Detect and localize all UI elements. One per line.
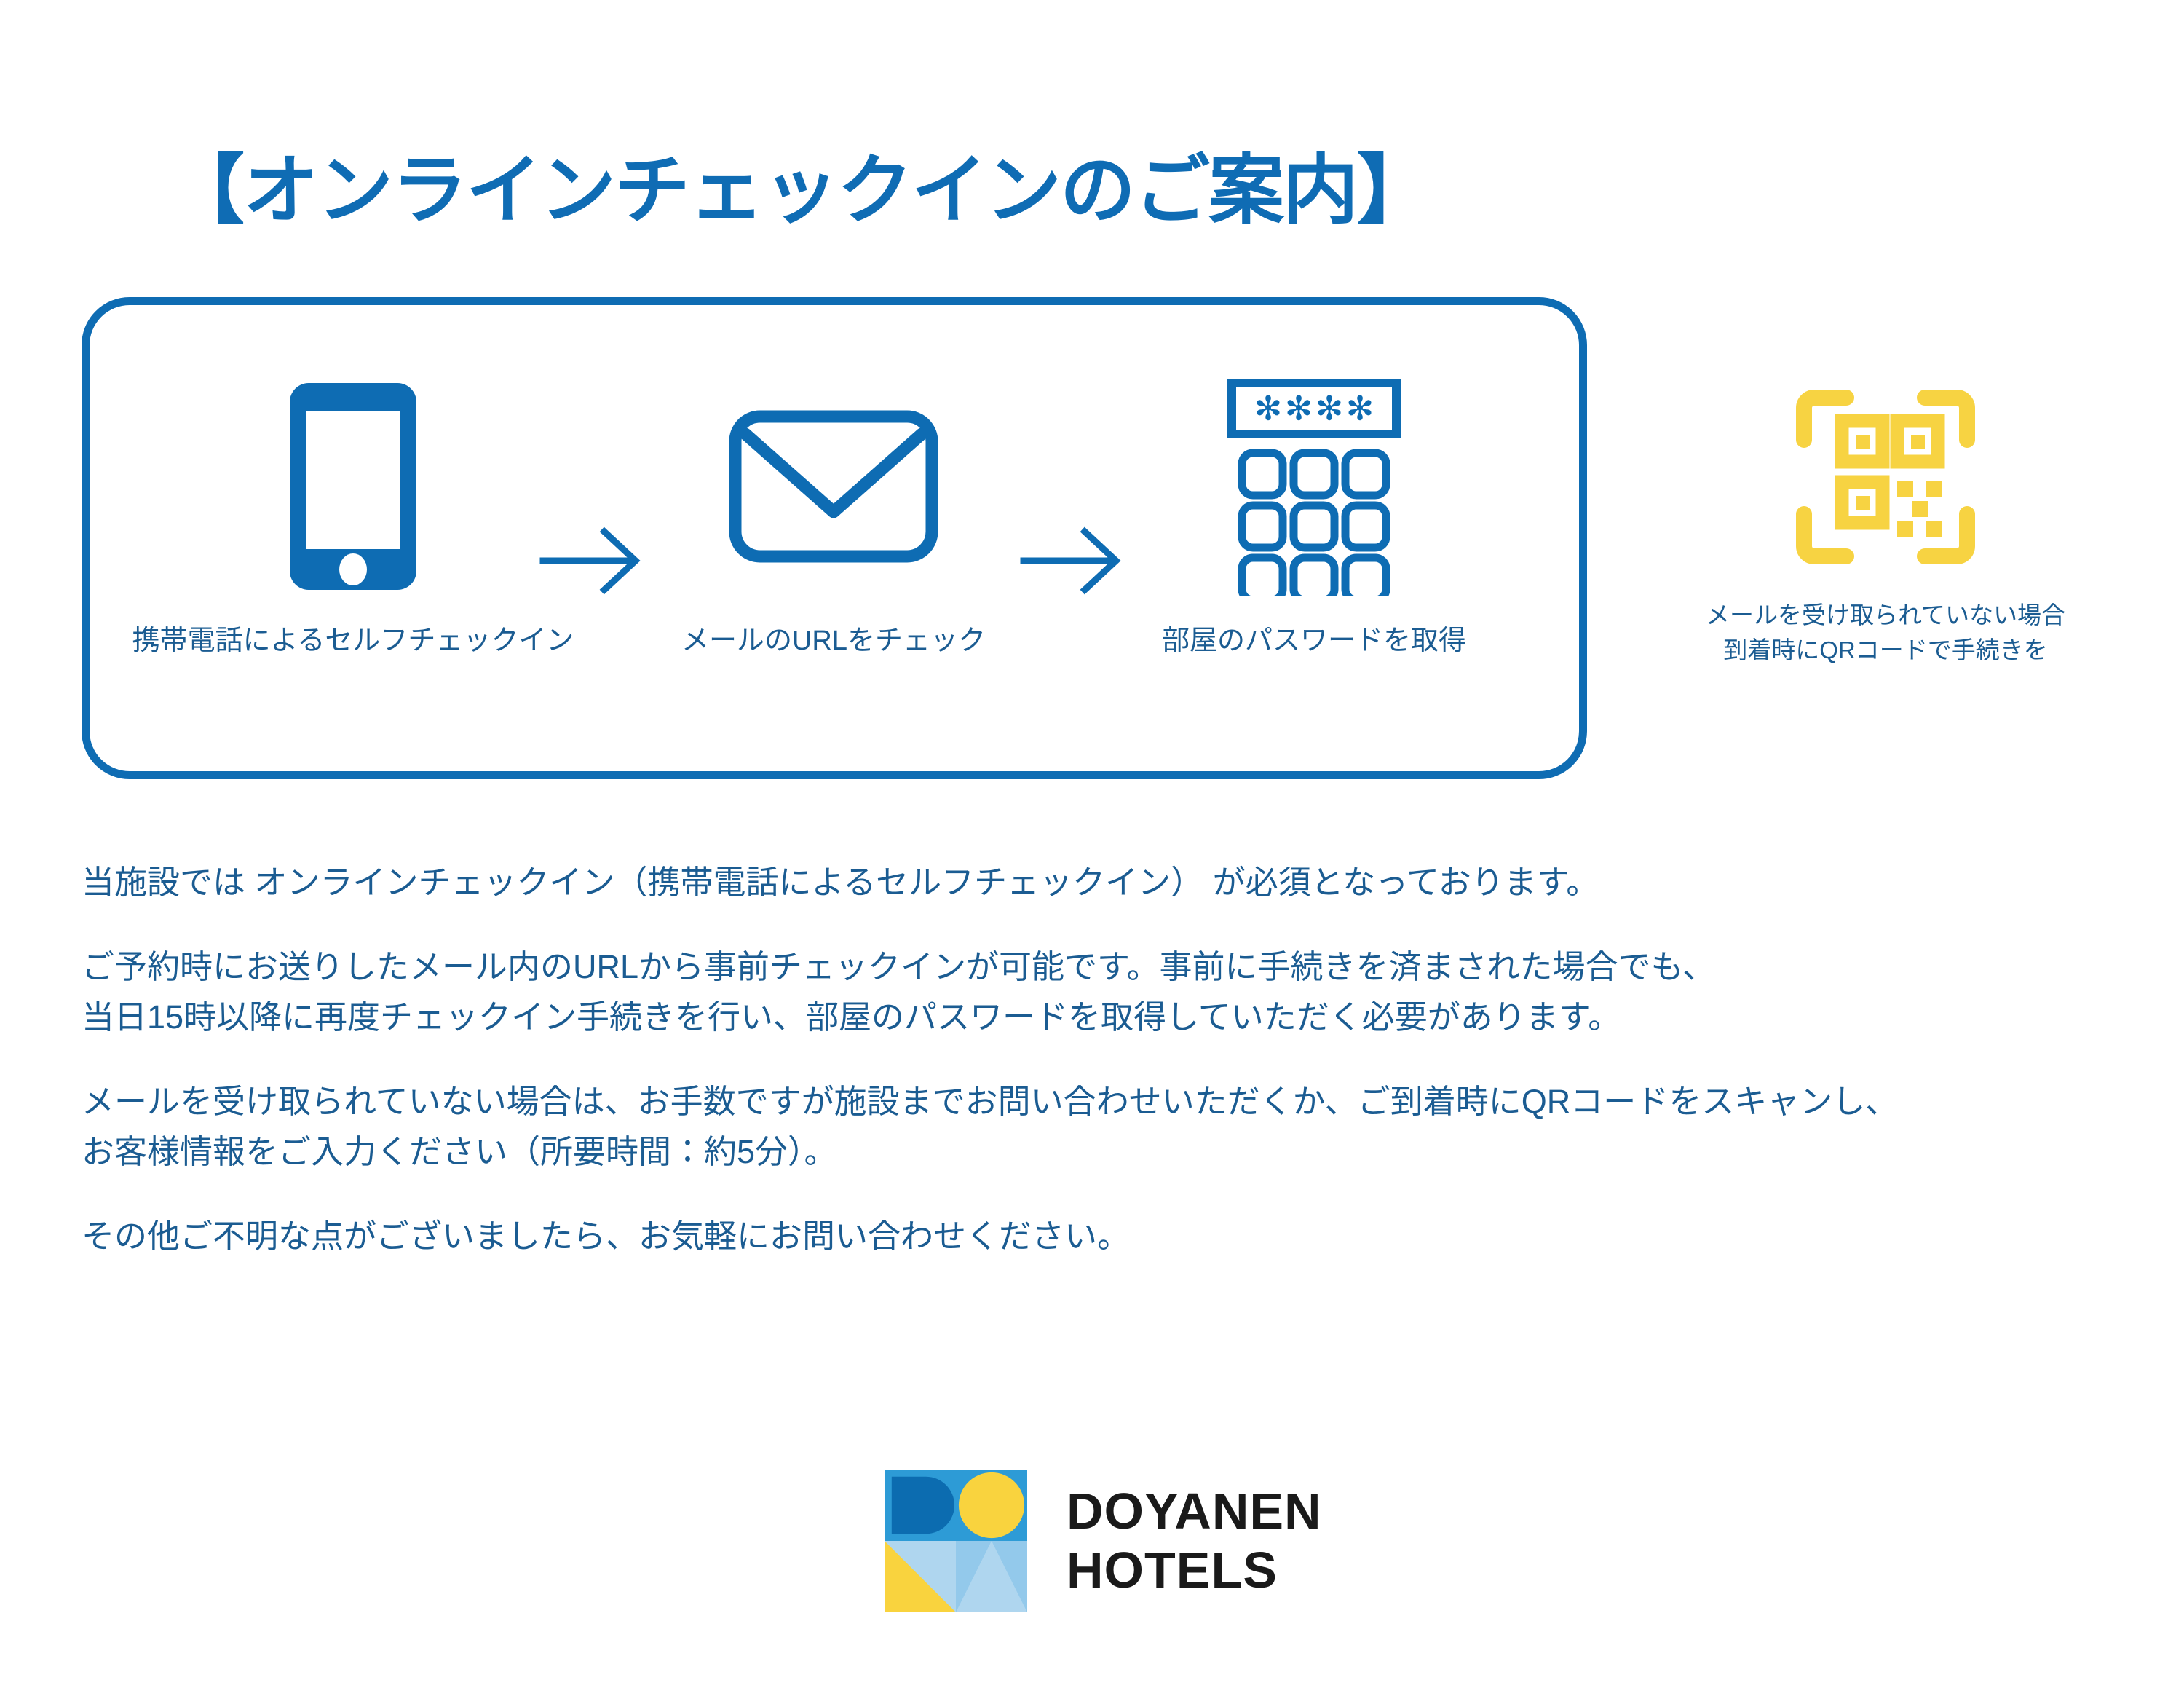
paragraph-3-line-1: メールを受け取られていない場合は、お手数ですが施設までお問い合わせいただくか、ご…: [82, 1083, 1898, 1120]
qr-caption-line-2: 到着時にQRコードで手続きを: [1706, 633, 2065, 668]
svg-text:✻: ✻: [1315, 388, 1344, 427]
qr-code-scan-icon: [1791, 379, 1980, 579]
smartphone-icon: [284, 377, 422, 596]
paragraph-2-line-1: ご予約時にお送りしたメール内のURLから事前チェックインが可能です。事前に手続き…: [82, 948, 1715, 985]
paragraph-4: その他ご不明な点がございましたら、お気軽にお問い合わせください。: [82, 1212, 2120, 1261]
step-label: 携帯電話によるセルフチェックイン: [132, 618, 574, 658]
paragraph-2: ご予約時にお送りしたメール内のURLから事前チェックインが可能です。事前に手続き…: [82, 942, 2120, 1042]
keypad-password-icon: ✻ ✻ ✻ ✻: [1223, 377, 1405, 596]
paragraph-3-line-2: お客様情報をご入力ください（所要時間：約5分）。: [82, 1133, 837, 1170]
qr-caption: メールを受け取られていない場合 到着時にQRコードで手続きを: [1706, 598, 2065, 668]
arrow-right-icon: [994, 437, 1154, 597]
qr-caption-line-1: メールを受け取られていない場合: [1706, 598, 2065, 633]
paragraph-1: 当施設では オンラインチェックイン（携帯電話によるセルフチェックイン） が必須と…: [82, 858, 2120, 907]
step-get-room-password: ✻ ✻ ✻ ✻ 部屋のパスワードを取得: [1154, 377, 1474, 658]
brand-name-line-2: HOTELS: [1067, 1541, 1322, 1600]
brand-name-line-1: DOYANEN: [1067, 1482, 1322, 1541]
step-label: 部屋のパスワードを取得: [1162, 618, 1466, 658]
svg-text:✻: ✻: [1285, 388, 1313, 427]
step-check-email-url: メールのURLをチェック: [673, 377, 994, 658]
paragraph-2-line-2: 当日15時以降に再度チェックイン手続きを行い、部屋のパスワードを取得していただく…: [82, 998, 1621, 1036]
svg-text:✻: ✻: [1254, 388, 1283, 427]
step-self-checkin: 携帯電話によるセルフチェックイン: [193, 377, 513, 658]
brand-wordmark: DOYANEN HOTELS: [1067, 1482, 1322, 1600]
body-copy: 当施設では オンラインチェックイン（携帯電話によるセルフチェックイン） が必須と…: [82, 858, 2120, 1261]
paragraph-1-line-1: 当施設では オンラインチェックイン（携帯電話によるセルフチェックイン） が必須と…: [82, 864, 1599, 901]
page-title: 【オンラインチェックインのご案内】: [169, 149, 1431, 232]
arrow-right-icon: [513, 437, 673, 597]
envelope-icon: [728, 377, 939, 596]
svg-text:✻: ✻: [1346, 388, 1374, 427]
checkin-steps-row: 携帯電話によるセルフチェックイン メールのURLをチェック: [95, 313, 1572, 721]
paragraph-3: メールを受け取られていない場合は、お手数ですが施設までお問い合わせいただくか、ご…: [82, 1077, 2120, 1177]
step-label: メールのURLをチェック: [681, 618, 986, 658]
doyanen-logo-mark: [885, 1470, 1027, 1612]
paragraph-4-line-1: その他ご不明な点がございましたら、お気軽にお問い合わせください。: [82, 1218, 1130, 1255]
qr-fallback-block: メールを受け取られていない場合 到着時にQRコードで手続きを: [1638, 379, 2133, 668]
brand-logo: DOYANEN HOTELS: [885, 1470, 1322, 1612]
